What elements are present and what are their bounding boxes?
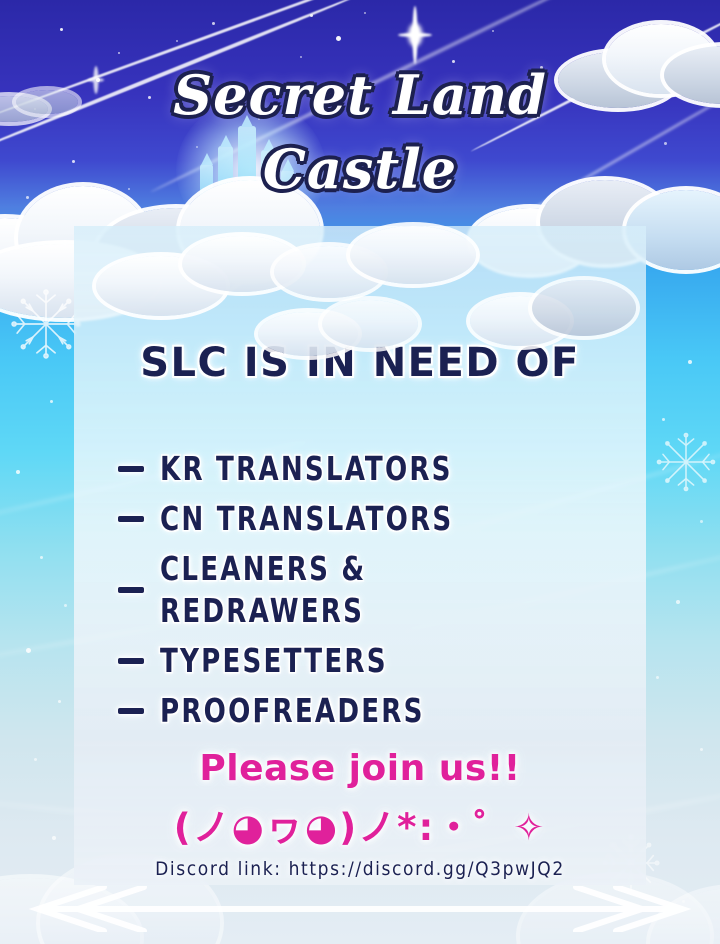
list-item: PROOFREADERS [94, 690, 626, 732]
star [60, 28, 63, 31]
star [700, 748, 703, 751]
dash-icon [118, 516, 144, 522]
list-item: CN TRANSLATORS [94, 498, 626, 540]
star [700, 520, 703, 523]
title-line-1: Secret Land [173, 63, 547, 127]
page-title: Secret Land Castle [0, 58, 720, 206]
poster-canvas: Secret Land Castle SLC IS IN NEED OF KR … [0, 0, 720, 944]
star [58, 700, 61, 703]
star [50, 400, 53, 403]
dash-icon [118, 466, 144, 472]
star [492, 30, 494, 32]
join-block: Please join us!! (ノ◕ヮ◕)ノ*:・゜✧ [74, 748, 646, 851]
star [52, 836, 56, 840]
star [662, 418, 665, 421]
need-label: KR TRANSLATORS [160, 448, 453, 490]
star [656, 676, 659, 679]
star [176, 40, 178, 42]
star [688, 360, 692, 364]
star [64, 604, 67, 607]
sparkle-core [408, 23, 422, 46]
star [118, 52, 120, 54]
list-item: TYPESETTERS [94, 640, 626, 682]
snowflake-icon-right [654, 430, 718, 494]
star [336, 36, 341, 41]
star [364, 12, 366, 14]
need-label: CLEANERS & REDRAWERS [160, 548, 570, 632]
cloud-puff [350, 226, 476, 284]
cloud-cluster-panel-mid [258, 296, 458, 376]
star [16, 470, 20, 474]
cloud-puff [322, 300, 418, 348]
arrow-divider [18, 886, 702, 932]
need-label: CN TRANSLATORS [160, 498, 453, 540]
need-label: TYPESETTERS [160, 640, 388, 682]
kaomoji-emoticon: (ノ◕ヮ◕)ノ*:・゜✧ [74, 797, 646, 851]
discord-link[interactable]: Discord link: https://discord.gg/Q3pwJQ2 [74, 858, 646, 880]
star [34, 758, 37, 761]
sparkle-icon [398, 6, 432, 64]
cloud-puff [532, 280, 636, 336]
snowflake-icon-left [8, 286, 84, 362]
title-line-2: Castle [0, 132, 720, 206]
needs-list: KR TRANSLATORS CN TRANSLATORS CLEANERS &… [94, 448, 626, 740]
cloud-cluster-panel-right [470, 270, 650, 360]
list-item: KR TRANSLATORS [94, 448, 626, 490]
list-item: CLEANERS & REDRAWERS [94, 548, 626, 632]
star [40, 556, 43, 559]
join-call-to-action: Please join us!! [74, 748, 646, 789]
star [212, 22, 215, 25]
dash-icon [118, 658, 144, 664]
need-label: PROOFREADERS [160, 690, 425, 732]
dash-icon [118, 587, 144, 593]
star [676, 600, 680, 604]
dash-icon [118, 708, 144, 714]
